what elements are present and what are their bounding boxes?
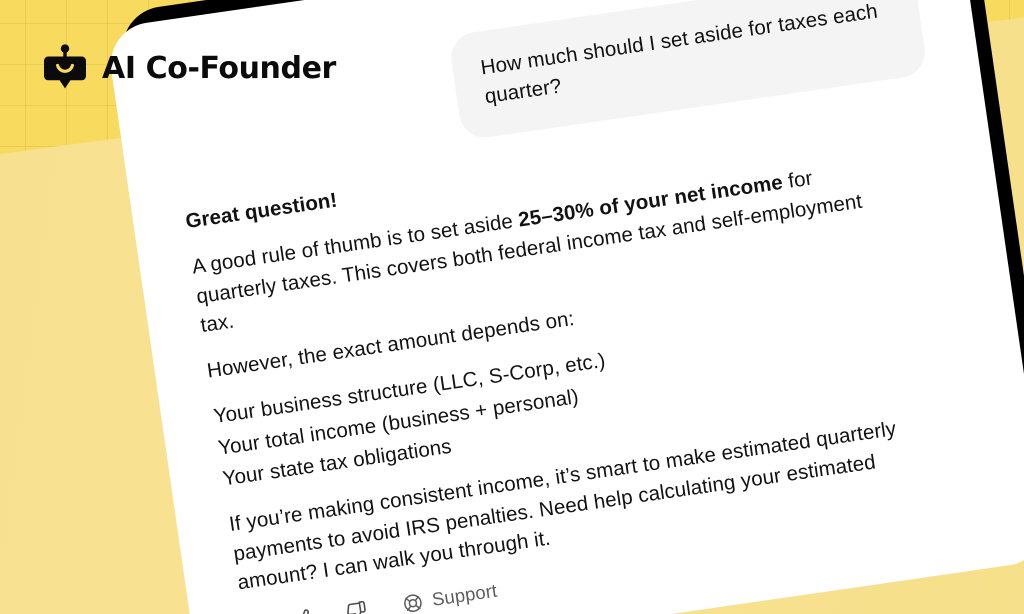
thumbs-down-icon <box>344 599 369 614</box>
assistant-greeting-text: Great question! <box>184 189 339 234</box>
brand-logo[interactable]: AI Co-Founder <box>44 44 336 92</box>
robot-head-icon <box>44 44 86 92</box>
chat-card: How much should I set aside for taxes ea… <box>105 0 1024 614</box>
support-label: Support <box>430 578 499 614</box>
assistant-message: Great question! A good rule of thumb is … <box>184 108 939 614</box>
conversation: How much should I set aside for taxes ea… <box>105 0 1024 614</box>
screenshot-stage: How much should I set aside for taxes ea… <box>0 0 1024 614</box>
chat-card-wrapper: How much should I set aside for taxes ea… <box>105 0 1024 614</box>
thumbs-down-button[interactable] <box>341 597 370 614</box>
lifebuoy-icon <box>401 591 425 614</box>
thumbs-up-button[interactable] <box>292 604 321 614</box>
support-button[interactable]: Support <box>401 578 499 614</box>
thumbs-up-icon <box>294 606 319 614</box>
brand-name: AI Co-Founder <box>102 51 336 86</box>
